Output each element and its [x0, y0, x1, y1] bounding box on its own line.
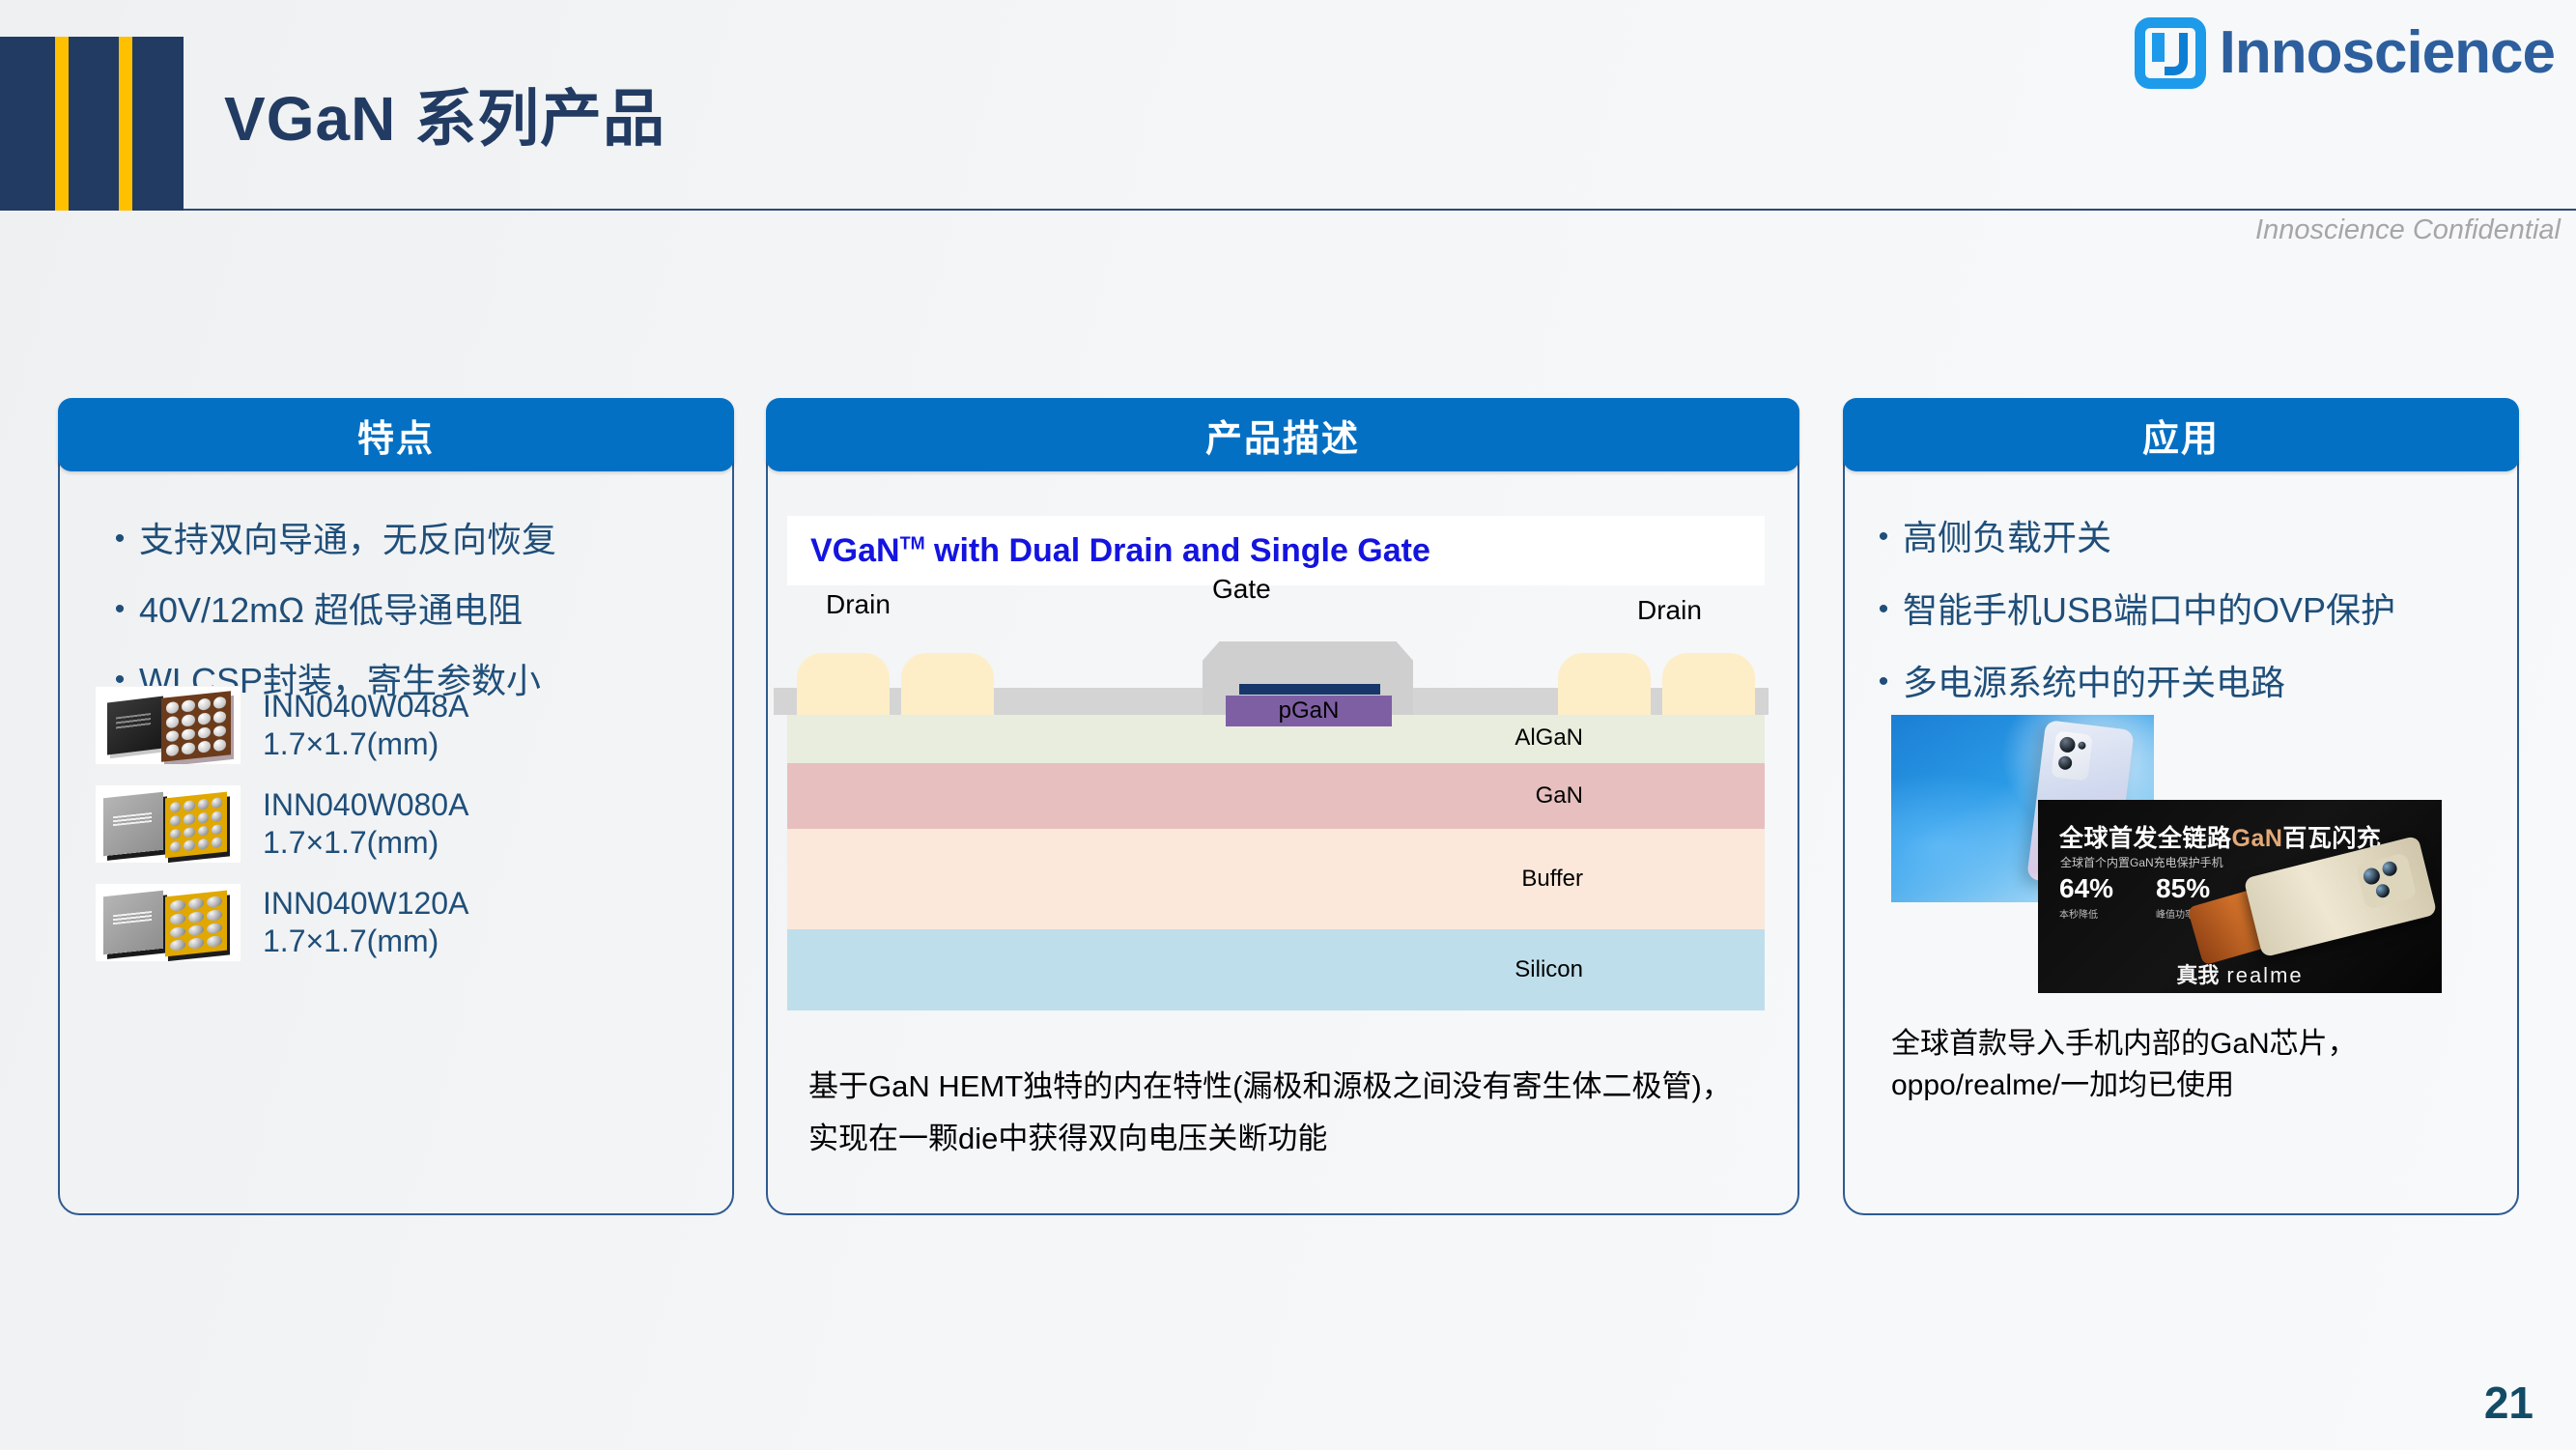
vgan-banner-rest: with Dual Drain and Single Gate: [925, 532, 1430, 569]
description-note: 基于GaN HEMT独特的内在特性(漏极和源极之间没有寄生体二极管)，实现在一颗…: [808, 1061, 1736, 1166]
diagram-layer-buffer: Buffer: [787, 829, 1765, 929]
diagram-pgan-label: pGaN: [1279, 699, 1340, 723]
features-card-title: 特点: [357, 409, 435, 462]
diagram-drain-contact-left-2: [901, 653, 994, 715]
page-title: VGaN 系列产品: [224, 70, 665, 158]
product-part-number: INN040W080A: [263, 786, 468, 824]
logo-wordmark: Innoscience: [2220, 23, 2555, 83]
applications-bullet-2: 智能手机USB端口中的OVP保护: [1903, 588, 2513, 632]
diagram-layer-label-silicon: Silicon: [1514, 956, 1583, 983]
ad-stat-1-value: 64%: [2059, 875, 2113, 902]
device-cross-section-diagram: Drain Gate Drain AlGaN GaN Buffer Silico…: [787, 595, 1765, 1010]
diagram-label-gate: Gate: [1212, 574, 1271, 605]
list-item: • 支持双向导通，无反向恢复: [100, 518, 719, 561]
list-item: • 高侧负载开关: [1864, 516, 2513, 559]
features-card: 特点 • 支持双向导通，无反向恢复 • 40V/12mΩ 超低导通电阻 • WL…: [58, 398, 734, 1215]
realme-brand-logo: 真我realme: [2176, 958, 2303, 989]
header-divider: [184, 209, 2576, 211]
realme-ad-photo: 全球首发全链路GaN百瓦闪充 全球首个内置GaN充电保护手机 64% 本秒降低 …: [2038, 800, 2442, 993]
trademark-mark: TM: [900, 533, 925, 553]
description-card-body: VGaNTM with Dual Drain and Single Gate D…: [768, 473, 1798, 1213]
description-card-header: 产品描述: [766, 398, 1799, 471]
applications-card-header: 应用: [1843, 398, 2519, 471]
bullet-dot-icon: •: [100, 518, 139, 560]
features-card-header: 特点: [58, 398, 734, 471]
ad-stat-1: 64% 本秒降低: [2059, 875, 2113, 921]
product-label-1: INN040W048A 1.7×1.7(mm): [263, 688, 468, 763]
camera-module-icon: [2051, 730, 2093, 781]
bullet-dot-icon: •: [1864, 661, 1903, 703]
list-item: • 智能手机USB端口中的OVP保护: [1864, 588, 2513, 632]
applications-caption: 全球首款导入手机内部的GaN芯片，oppo/realme/一加均已使用: [1891, 1024, 2490, 1106]
features-card-body: • 支持双向导通，无反向恢复 • 40V/12mΩ 超低导通电阻 • WLCSP…: [60, 473, 732, 1213]
product-label-2: INN040W080A 1.7×1.7(mm): [263, 786, 468, 862]
diagram-layer-label-algan: AlGaN: [1514, 725, 1583, 752]
gold-stripe-right: [119, 37, 132, 211]
product-list: INN040W048A 1.7×1.7(mm): [95, 686, 713, 981]
ad-stat-1-caption: 本秒降低: [2059, 906, 2113, 921]
page-number: 21: [2484, 1377, 2534, 1429]
diagram-pgan-layer: pGaN: [1226, 696, 1392, 726]
product-photo-inn040w048a: [95, 686, 241, 765]
bullet-dot-icon: •: [100, 588, 139, 631]
product-photo-inn040w080a: [95, 784, 241, 864]
applications-card-body: • 高侧负载开关 • 智能手机USB端口中的OVP保护 • 多电源系统中的开关电…: [1845, 473, 2517, 1213]
features-bullet-2: 40V/12mΩ 超低导通电阻: [139, 588, 719, 632]
diagram-gate-metal: [1239, 684, 1380, 695]
diagram-drain-contact-right-1: [1558, 653, 1651, 715]
application-photos: 全球首发全链路GaN百瓦闪充 全球首个内置GaN充电保护手机 64% 本秒降低 …: [1891, 715, 2490, 1005]
diagram-layer-label-buffer: Buffer: [1521, 866, 1583, 893]
vgan-banner-text: VGaNTM with Dual Drain and Single Gate: [810, 532, 1430, 570]
diagram-layer-gan: GaN: [787, 763, 1765, 829]
product-size: 1.7×1.7(mm): [263, 923, 468, 960]
list-item: • 40V/12mΩ 超低导通电阻: [100, 588, 719, 632]
confidential-note: Innoscience Confidential: [2255, 214, 2561, 246]
list-item: INN040W048A 1.7×1.7(mm): [95, 686, 713, 765]
diagram-label-drain-left: Drain: [826, 589, 891, 620]
title-accent-block: [0, 37, 184, 211]
innoscience-logo: Innoscience: [2135, 17, 2555, 89]
vgan-banner: VGaNTM with Dual Drain and Single Gate: [787, 516, 1765, 585]
diagram-drain-contact-right-2: [1662, 653, 1755, 715]
bullet-dot-icon: •: [1864, 516, 1903, 558]
realme-brand-en: realme: [2226, 963, 2303, 987]
product-part-number: INN040W048A: [263, 688, 468, 725]
innoscience-logo-icon: [2135, 17, 2206, 89]
bullet-dot-icon: •: [1864, 588, 1903, 631]
diagram-layer-silicon: Silicon: [787, 929, 1765, 1010]
slide-canvas: VGaN 系列产品 Innoscience Innoscience Confid…: [0, 0, 2576, 1450]
product-size: 1.7×1.7(mm): [263, 824, 468, 862]
diagram-label-drain-right: Drain: [1637, 595, 1702, 626]
diagram-layer-label-gan: GaN: [1536, 782, 1583, 810]
applications-bullet-3: 多电源系统中的开关电路: [1903, 661, 2513, 704]
product-size: 1.7×1.7(mm): [263, 725, 468, 763]
realme-brand-cn: 真我: [2176, 963, 2219, 987]
gold-stripe-left: [55, 37, 69, 211]
product-photo-inn040w120a: [95, 883, 241, 962]
applications-bullet-list: • 高侧负载开关 • 智能手机USB端口中的OVP保护 • 多电源系统中的开关电…: [1864, 516, 2513, 733]
list-item: INN040W080A 1.7×1.7(mm): [95, 784, 713, 864]
description-card-title: 产品描述: [1205, 409, 1360, 462]
applications-card-title: 应用: [2142, 409, 2220, 462]
product-label-3: INN040W120A 1.7×1.7(mm): [263, 885, 468, 960]
list-item: • 多电源系统中的开关电路: [1864, 661, 2513, 704]
ad-device-renders: [2193, 846, 2434, 952]
features-bullet-1: 支持双向导通，无反向恢复: [139, 518, 719, 561]
description-card: 产品描述 VGaNTM with Dual Drain and Single G…: [766, 398, 1799, 1215]
list-item: INN040W120A 1.7×1.7(mm): [95, 883, 713, 962]
applications-bullet-1: 高侧负载开关: [1903, 516, 2513, 559]
applications-card: 应用 • 高侧负载开关 • 智能手机USB端口中的OVP保护 • 多电源系统中的…: [1843, 398, 2519, 1215]
product-part-number: INN040W120A: [263, 885, 468, 923]
vgan-banner-title: VGaN: [810, 532, 900, 569]
diagram-drain-contact-left-1: [797, 653, 890, 715]
